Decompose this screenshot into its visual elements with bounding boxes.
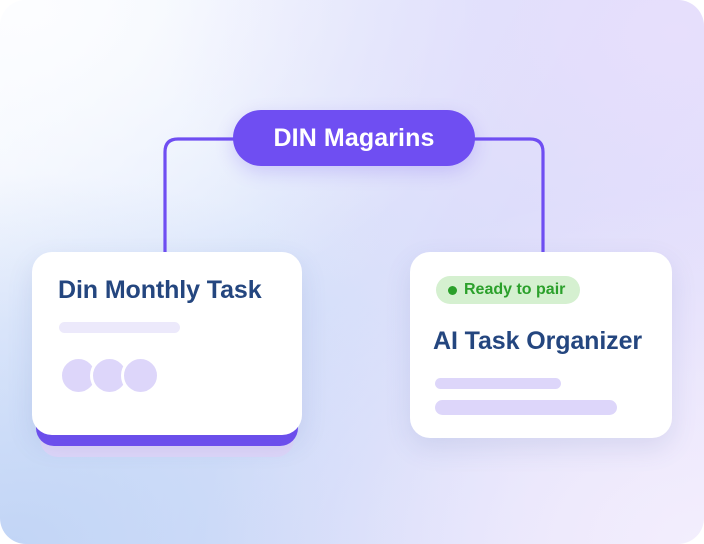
status-dot-icon: [448, 286, 457, 295]
hub-pill-label: DIN Magarins: [274, 124, 435, 153]
connector-left-path: [165, 139, 233, 252]
placeholder-bar: [59, 322, 180, 333]
card-ai-task-organizer[interactable]: Ready to pair AI Task Organizer: [410, 252, 672, 438]
placeholder-bar: [435, 378, 561, 389]
hub-pill[interactable]: DIN Magarins: [233, 110, 475, 166]
card-right-title: AI Task Organizer: [433, 327, 642, 356]
avatar: [121, 356, 160, 395]
avatar-group: [59, 356, 160, 395]
connector-right-path: [475, 139, 543, 252]
card-left-title: Din Monthly Task: [58, 276, 262, 305]
card-din-monthly-task[interactable]: Din Monthly Task: [32, 252, 302, 435]
placeholder-bar: [435, 400, 617, 415]
status-badge: Ready to pair: [436, 276, 580, 304]
diagram-canvas: DIN Magarins Din Monthly Task Ready to p…: [0, 0, 704, 544]
status-badge-label: Ready to pair: [464, 281, 565, 299]
